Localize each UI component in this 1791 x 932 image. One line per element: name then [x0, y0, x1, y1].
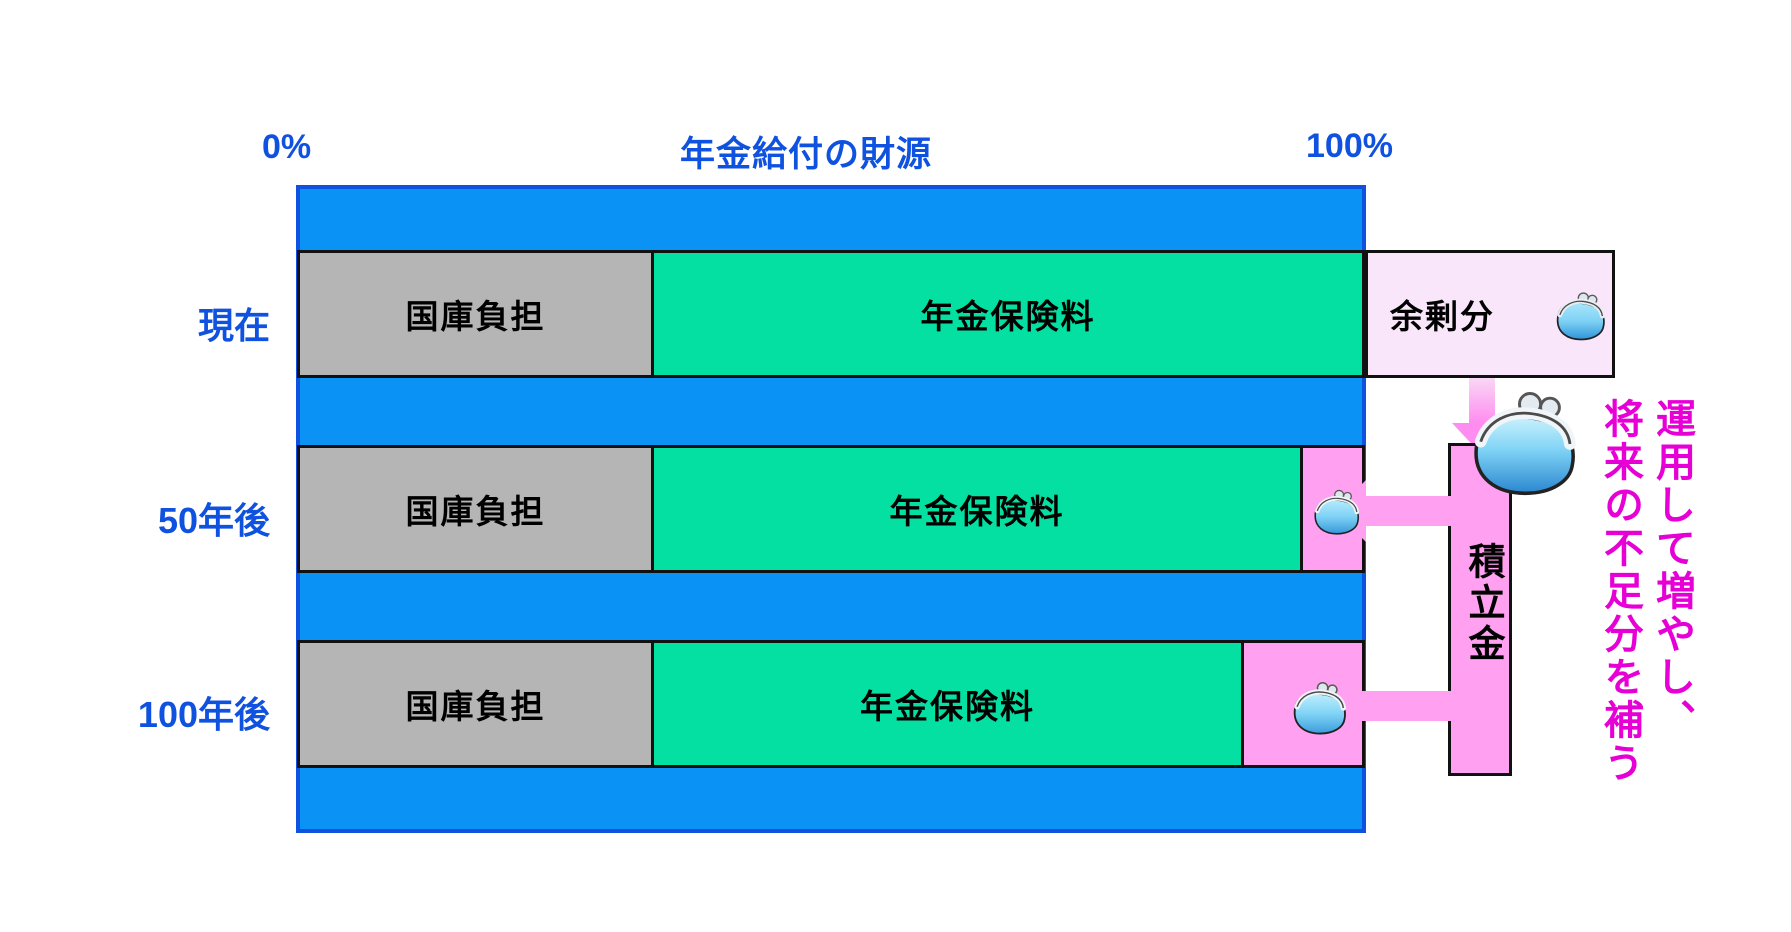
segment-treasury[interactable]: 国庫負担: [297, 640, 654, 768]
segment-treasury[interactable]: 国庫負担: [297, 445, 654, 573]
segment-premium[interactable]: 年金保険料: [651, 445, 1303, 573]
caption-block: 運用して増やし、 将来の不足分を補う: [1596, 398, 1696, 785]
purse-icon: [1552, 290, 1608, 342]
segment-premium[interactable]: 年金保険料: [651, 640, 1244, 768]
bar-row-present: 国庫負担 年金保険料: [297, 250, 1365, 378]
axis-label-end: 100%: [1306, 127, 1393, 166]
bar-row-50-years: 国庫負担 年金保険料: [297, 445, 1365, 573]
purse-icon: [1288, 680, 1350, 736]
arrow-left-icon-row-50-years: [1365, 496, 1451, 526]
surplus-label: 余剰分: [1390, 290, 1495, 338]
diagram-canvas: 0% 年金給付の財源 100% 現在 50年後 100年後 国庫負担 年金保険料…: [0, 0, 1791, 932]
segment-label: 年金保険料: [860, 680, 1035, 728]
segment-label: 国庫負担: [406, 290, 546, 338]
purse-icon-large: [1464, 390, 1582, 498]
segment-label: 年金保険料: [890, 485, 1065, 533]
row-label-50-years: 50年後: [50, 492, 270, 544]
caption-line-2: 将来の不足分を補う: [1596, 398, 1644, 785]
segment-label: 年金保険料: [921, 290, 1096, 338]
segment-label: 国庫負担: [406, 485, 546, 533]
row-label-100-years: 100年後: [50, 686, 270, 738]
axis-label-start: 0%: [262, 128, 311, 167]
segment-treasury[interactable]: 国庫負担: [297, 250, 654, 378]
page-title: 年金給付の財源: [680, 126, 932, 177]
segment-label: 国庫負担: [406, 680, 546, 728]
purse-icon: [1310, 488, 1362, 536]
bar-row-100-years: 国庫負担 年金保険料: [297, 640, 1365, 768]
caption-line-1: 運用して増やし、: [1648, 398, 1696, 785]
segment-premium[interactable]: 年金保険料: [651, 250, 1365, 378]
reserve-fund-label: 積立金: [1451, 542, 1515, 665]
row-label-present: 現在: [50, 297, 270, 349]
